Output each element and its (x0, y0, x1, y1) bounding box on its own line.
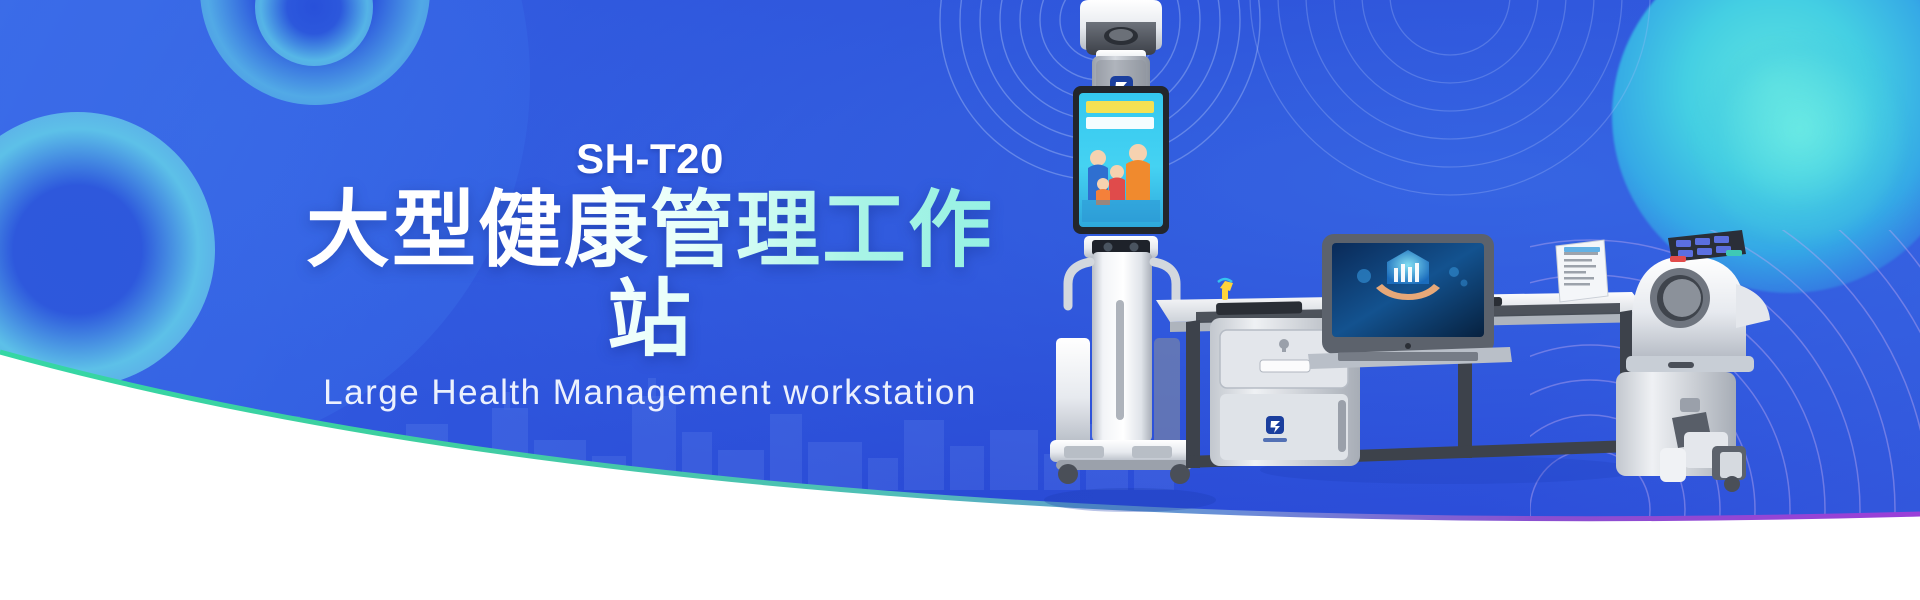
printed-report-card (1556, 240, 1608, 302)
auxiliary-equipment (1616, 372, 1746, 492)
kiosk-advertising-display[interactable] (1073, 86, 1169, 234)
desk-monitor[interactable] (1308, 234, 1512, 369)
handle-right (1154, 262, 1176, 306)
monitor-label (1338, 352, 1478, 361)
page-subtitle: Large Health Management workstation (270, 374, 1030, 413)
product-illustration (1020, 0, 1920, 600)
banner-copy: SH-T20 大型健康管理工作站 Large Health Management… (270, 138, 1030, 413)
product-model-code: SH-T20 (270, 138, 1030, 180)
health-kiosk-device (1050, 0, 1198, 484)
product-hero-banner: SH-T20 大型健康管理工作站 Large Health Management… (0, 0, 1920, 600)
handle-left (1068, 262, 1090, 306)
cabinet-brand-logo-icon (1263, 416, 1287, 442)
kiosk-shadow (1044, 488, 1216, 512)
page-title: 大型健康管理工作站 (270, 186, 1030, 364)
caster-wheel (1058, 464, 1078, 484)
desk-accessory (1218, 279, 1233, 300)
blood-pressure-monitor[interactable] (1626, 230, 1770, 372)
control-keypad[interactable] (1668, 230, 1746, 262)
caster-wheel (1724, 476, 1740, 492)
